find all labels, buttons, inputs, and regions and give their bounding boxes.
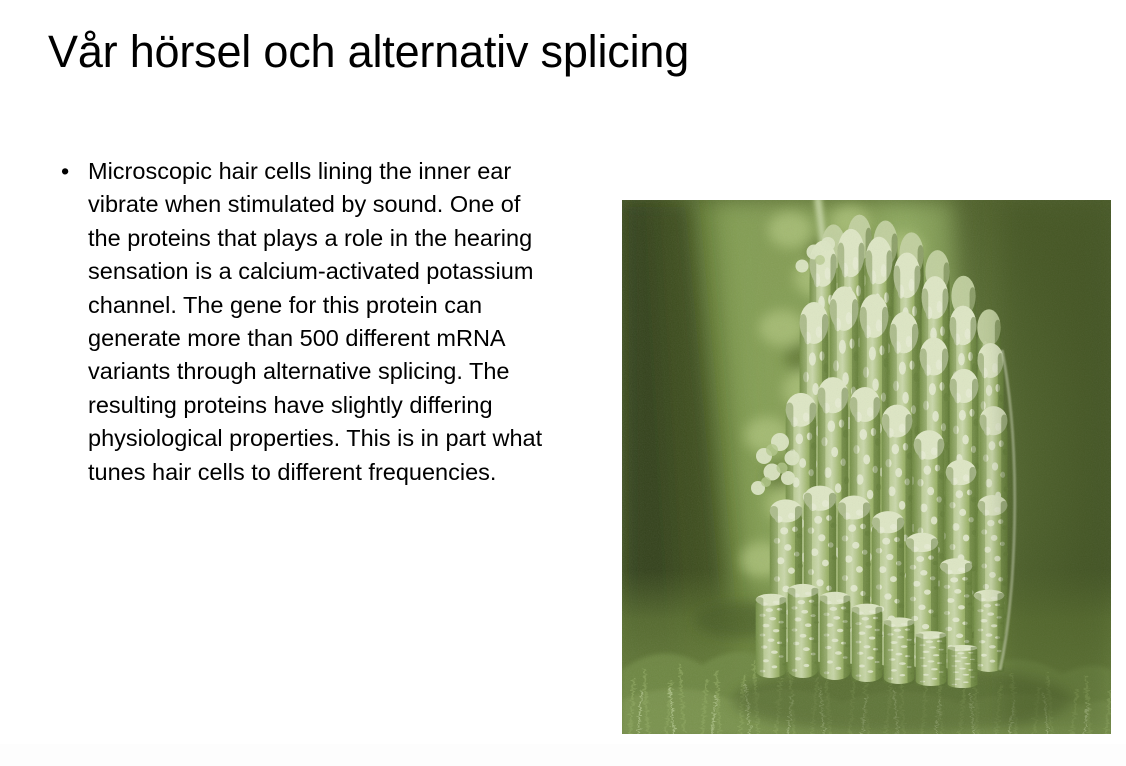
- page-title: Vår hörsel och alternativ splicing: [48, 24, 1048, 80]
- stereocilia-micrograph-figure: [622, 200, 1111, 734]
- right-vignette: [1002, 200, 1111, 734]
- body-text-block: • Microscopic hair cells lining the inne…: [56, 155, 556, 489]
- presentation-slide: Vår hörsel och alternativ splicing • Mic…: [0, 0, 1126, 766]
- slide-bottom-strip: [0, 744, 1126, 766]
- list-item-text: Microscopic hair cells lining the inner …: [88, 158, 542, 485]
- bullet-marker-icon: •: [61, 155, 69, 188]
- list-item: • Microscopic hair cells lining the inne…: [56, 155, 556, 489]
- stereocilia-micrograph-svg: [622, 200, 1111, 734]
